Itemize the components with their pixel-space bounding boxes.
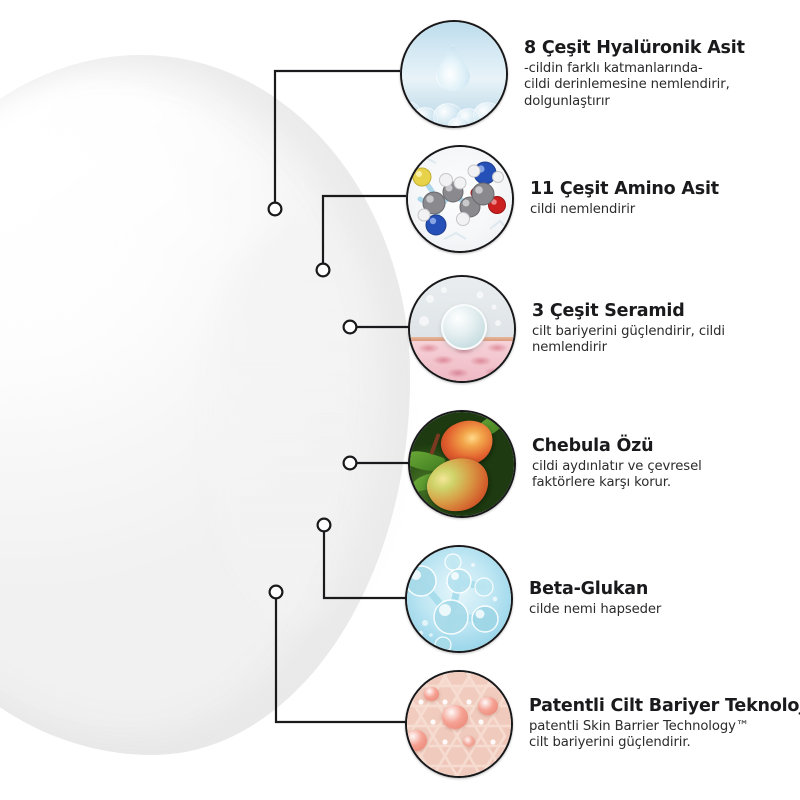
feature-row-beta-glukan[interactable]: Beta-Glukan cilde nemi hapseder [405, 545, 661, 653]
connector-dot-chebula [344, 457, 357, 470]
honeycomb-barrier-icon[interactable] [405, 670, 513, 778]
connector-dot-seramid [344, 321, 357, 334]
infographic-canvas: 8 Çeşit Hyalüronik Asit -cildin farklı k… [0, 0, 800, 800]
desc-line: faktörlere karşı korur. [532, 475, 702, 492]
connector-dot-beta-glukan [318, 519, 331, 532]
connector-amino-path [323, 196, 406, 264]
connector-hyaluronik-path [275, 71, 400, 203]
feature-title: Chebula Özü [532, 436, 702, 457]
desc-line: dolgunlaştırır [524, 94, 745, 111]
connector-dot-bariyer [270, 586, 283, 599]
feature-row-amino-asit[interactable]: 11 Çeşit Amino Asit cildi nemlendirir [406, 145, 719, 253]
feature-title: 8 Çeşit Hyalüronik Asit [524, 38, 745, 59]
feature-title: 3 Çeşit Seramid [532, 301, 725, 322]
feature-description: -cildin farklı katmanlarında- cildi deri… [524, 61, 745, 111]
desc-line: cildi aydınlatır ve çevresel [532, 459, 702, 476]
desc-line: patentli Skin Barrier Technology™ [529, 719, 800, 736]
molecule-ball-stick-icon[interactable] [406, 145, 514, 253]
feature-description: cilt bariyerini güçlendirir, cildi nemle… [532, 324, 725, 357]
desc-line: cilt bariyerini güçlendirir. [529, 735, 800, 752]
feature-row-seramid[interactable]: 3 Çeşit Seramid cilt bariyerini güçlendi… [408, 275, 725, 383]
feature-row-chebula-ozu[interactable]: Chebula Özü cildi aydınlatır ve çevresel… [408, 410, 702, 518]
water-droplet-icon[interactable] [400, 20, 508, 128]
desc-line: -cildin farklı katmanlarında- [524, 61, 745, 78]
skin-layer-sphere-icon[interactable] [408, 275, 516, 383]
glucan-molecule-icon[interactable] [405, 545, 513, 653]
desc-line: cilt bariyerini güçlendirir, cildi [532, 324, 725, 341]
feature-description: cilde nemi hapseder [529, 602, 661, 619]
chebula-fruit-icon[interactable] [408, 410, 516, 518]
connector-dot-amino [317, 264, 330, 277]
feature-title: Patentli Cilt Bariyer Teknolojisi [529, 696, 800, 717]
feature-description: patentli Skin Barrier Technology™ cilt b… [529, 719, 800, 752]
feature-row-cilt-bariyer-teknolojisi[interactable]: Patentli Cilt Bariyer Teknolojisi patent… [405, 670, 800, 778]
feature-title: 11 Çeşit Amino Asit [530, 179, 719, 200]
desc-line: cildi derinlemesine nemlendirir, [524, 77, 745, 94]
feature-description: cildi nemlendirir [530, 202, 719, 219]
feature-title: Beta-Glukan [529, 579, 661, 600]
feature-description: cildi aydınlatır ve çevresel faktörlere … [532, 459, 702, 492]
connector-bariyer-path [276, 598, 407, 722]
feature-row-hyaluronik-asit[interactable]: 8 Çeşit Hyalüronik Asit -cildin farklı k… [400, 20, 745, 128]
desc-line: nemlendirir [532, 340, 725, 357]
connector-beta-path [324, 531, 407, 598]
desc-line: cilde nemi hapseder [529, 602, 661, 619]
desc-line: cildi nemlendirir [530, 202, 719, 219]
connector-dot-hyaluronik [269, 203, 282, 216]
